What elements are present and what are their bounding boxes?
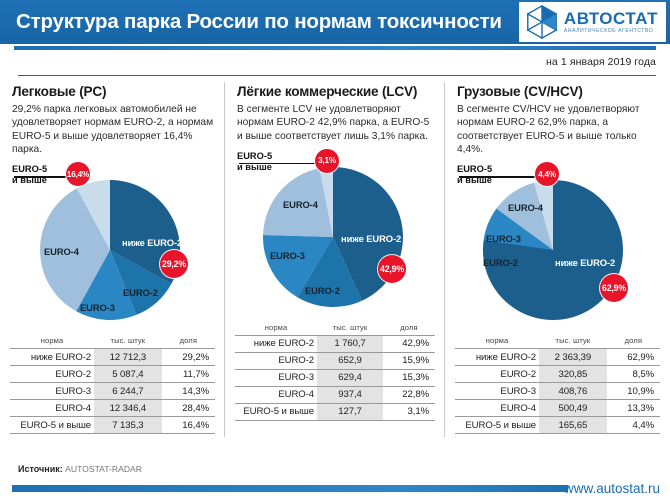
table-header-row: норма тыс. штук доля — [10, 334, 215, 349]
cell-qty: 937,4 — [317, 386, 383, 403]
cell-norm: ниже EURO-2 — [455, 349, 539, 366]
cell-norm: ниже EURO-2 — [235, 335, 317, 352]
cell-qty: 7 135,3 — [94, 417, 162, 434]
cell-norm: EURO-2 — [455, 366, 539, 383]
slice-label-euro2-cvhcv: EURO-2 — [483, 257, 518, 268]
table-row: EURO-2 5 087,4 11,7% — [10, 366, 215, 383]
cell-norm: EURO-4 — [10, 400, 94, 417]
pie-chart-lcv: EURO-5 и выше 3,1% 42,9% ниже EURO-2 EUR… — [235, 145, 440, 317]
slice-label-euro4-pc: EURO-4 — [44, 246, 79, 257]
table-row: EURO-4 12 346,4 28,4% — [10, 400, 215, 417]
slice-label-below-euro2-pc: ниже EURO-2 — [122, 237, 182, 248]
slice-label-euro2-pc: EURO-2 — [123, 287, 158, 298]
table-row: EURO-4 500,49 13,3% — [455, 400, 660, 417]
table-row: EURO-2 652,9 15,9% — [235, 352, 435, 369]
badge-euro5-pc: 16,4% — [66, 162, 90, 186]
hexagon-logo-icon — [523, 4, 561, 40]
cell-share: 28,4% — [162, 400, 215, 417]
cell-qty: 12 712,3 — [94, 349, 162, 366]
th-norm: норма — [10, 334, 94, 349]
cell-qty: 2 363,39 — [539, 349, 607, 366]
cell-norm: EURO-5 и выше — [10, 417, 94, 434]
cell-qty: 5 087,4 — [94, 366, 162, 383]
cell-share: 16,4% — [162, 417, 215, 434]
pie-chart-pc: EURO-5 и выше 16,4% 29,2% ниже EURO-2 EU… — [10, 158, 215, 330]
pie-chart-cvhcv: EURO-5 и выше 4,4% 62,9% ниже EURO-2 EUR… — [455, 158, 660, 330]
cell-norm: EURO-2 — [235, 352, 317, 369]
slice-label-euro4-cvhcv: EURO-4 — [508, 202, 543, 213]
column-desc-pc: 29,2% парка легковых автомобилей не удов… — [12, 103, 215, 156]
th-qty: тыс. штук — [94, 334, 162, 349]
table-row: EURO-4 937,4 22,8% — [235, 386, 435, 403]
badge-euro5-lcv: 3,1% — [315, 149, 339, 173]
cell-share: 62,9% — [607, 349, 660, 366]
slice-label-euro3-pc: EURO-3 — [80, 302, 115, 313]
th-share: доля — [162, 334, 215, 349]
th-share: доля — [607, 334, 660, 349]
table-row: EURO-3 408,76 10,9% — [455, 383, 660, 400]
table-row: EURO-5 и выше 165,65 4,4% — [455, 417, 660, 434]
table-cvhcv: норма тыс. штук доля ниже EURO-2 2 363,3… — [455, 334, 660, 434]
report-date: на 1 января 2019 года — [546, 56, 656, 68]
slice-label-euro3-lcv: EURO-3 — [270, 250, 305, 261]
header-divider-bar — [14, 46, 656, 50]
cell-qty: 500,49 — [539, 400, 607, 417]
column-title-cvhcv: Грузовые (CV/HCV) — [457, 84, 660, 99]
th-norm: норма — [235, 321, 317, 336]
table-header-row: норма тыс. штук доля — [455, 334, 660, 349]
source-value: AUTOSTAT-RADAR — [65, 464, 142, 474]
column-desc-cvhcv: В сегменте CV/HCV не удовлетворяют норма… — [457, 103, 660, 156]
cell-qty: 165,65 — [539, 417, 607, 434]
footer-bar — [12, 485, 568, 492]
euro5-line1: EURO-5 — [457, 164, 492, 174]
cell-qty: 629,4 — [317, 369, 383, 386]
cell-qty: 408,76 — [539, 383, 607, 400]
infographic-page: Структура парка России по нормам токсичн… — [0, 0, 670, 500]
cell-share: 14,3% — [162, 383, 215, 400]
table-row: ниже EURO-2 1 760,7 42,9% — [235, 335, 435, 352]
cell-norm: EURO-3 — [235, 369, 317, 386]
cell-norm: EURO-3 — [10, 383, 94, 400]
slice-label-euro3-cvhcv: EURO-3 — [486, 233, 521, 244]
cell-norm: EURO-2 — [10, 366, 94, 383]
table-row: EURO-5 и выше 7 135,3 16,4% — [10, 417, 215, 434]
cell-share: 22,8% — [383, 386, 435, 403]
badge-below-euro2-lcv: 42,9% — [378, 255, 406, 283]
logo-wordmark: АВТОСТАТ АНАЛИТИЧЕСКОЕ АГЕНТСТВО — [564, 10, 658, 34]
cell-share: 29,2% — [162, 349, 215, 366]
table-lcv: норма тыс. штук доля ниже EURO-2 1 760,7… — [235, 321, 435, 421]
column-pc: Легковые (PC) 29,2% парка легковых автом… — [0, 80, 225, 460]
slice-label-below-euro2-cvhcv: ниже EURO-2 — [555, 257, 615, 268]
logo-tagline: АНАЛИТИЧЕСКОЕ АГЕНТСТВО — [564, 29, 658, 34]
th-share: доля — [383, 321, 435, 336]
table-row: EURO-3 6 244,7 14,3% — [10, 383, 215, 400]
cell-norm: ниже EURO-2 — [10, 349, 94, 366]
columns-container: Легковые (PC) 29,2% парка легковых автом… — [0, 80, 670, 460]
cell-share: 11,7% — [162, 366, 215, 383]
cell-share: 13,3% — [607, 400, 660, 417]
cell-qty: 1 760,7 — [317, 335, 383, 352]
cell-share: 42,9% — [383, 335, 435, 352]
euro5-callout-lcv: EURO-5 и выше — [237, 151, 272, 173]
column-cvhcv: Грузовые (CV/HCV) В сегменте CV/HCV не у… — [445, 80, 670, 460]
table-header-row: норма тыс. штук доля — [235, 321, 435, 336]
table-row: EURO-3 629,4 15,3% — [235, 369, 435, 386]
euro5-line1: EURO-5 — [237, 151, 272, 161]
badge-below-euro2-cvhcv: 62,9% — [600, 274, 628, 302]
slice-label-below-euro2-lcv: ниже EURO-2 — [341, 233, 401, 244]
cell-norm: EURO-5 и выше — [235, 403, 317, 420]
cell-norm: EURO-4 — [455, 400, 539, 417]
cell-share: 15,3% — [383, 369, 435, 386]
column-lcv: Лёгкие коммерческие (LCV) В сегменте LCV… — [225, 80, 445, 460]
th-qty: тыс. штук — [539, 334, 607, 349]
table-pc: норма тыс. штук доля ниже EURO-2 12 712,… — [10, 334, 215, 434]
table-row: EURO-2 320,85 8,5% — [455, 366, 660, 383]
euro5-leader-line — [239, 163, 316, 165]
column-title-lcv: Лёгкие коммерческие (LCV) — [237, 84, 435, 99]
cell-qty: 320,85 — [539, 366, 607, 383]
table-row: EURO-5 и выше 127,7 3,1% — [235, 403, 435, 420]
column-desc-lcv: В сегменте LCV не удовлетворяют нормам E… — [237, 103, 435, 143]
cell-qty: 12 346,4 — [94, 400, 162, 417]
th-norm: норма — [455, 334, 539, 349]
autostat-logo: АВТОСТАТ АНАЛИТИЧЕСКОЕ АГЕНТСТВО — [519, 2, 666, 42]
th-qty: тыс. штук — [317, 321, 383, 336]
badge-below-euro2-pc: 29,2% — [160, 250, 188, 278]
source-label: Источник: — [18, 464, 63, 474]
table-row: ниже EURO-2 12 712,3 29,2% — [10, 349, 215, 366]
page-title: Структура парка России по нормам токсичн… — [0, 10, 519, 34]
footer-url[interactable]: www.autostat.ru — [564, 481, 660, 496]
badge-euro5-cvhcv: 4,4% — [535, 162, 559, 186]
cell-qty: 6 244,7 — [94, 383, 162, 400]
table-row: ниже EURO-2 2 363,39 62,9% — [455, 349, 660, 366]
logo-name: АВТОСТАТ — [564, 10, 658, 27]
euro5-leader-line — [14, 176, 66, 178]
page-header: Структура парка России по нормам токсичн… — [0, 0, 670, 44]
cell-norm: EURO-4 — [235, 386, 317, 403]
cell-share: 4,4% — [607, 417, 660, 434]
cell-qty: 652,9 — [317, 352, 383, 369]
euro5-callout-pc: EURO-5 и выше — [12, 164, 47, 186]
cell-qty: 127,7 — [317, 403, 383, 420]
slice-label-euro2-lcv: EURO-2 — [305, 285, 340, 296]
column-title-pc: Легковые (PC) — [12, 84, 215, 99]
euro5-leader-line — [459, 176, 536, 178]
date-divider — [18, 75, 656, 76]
cell-norm: EURO-5 и выше — [455, 417, 539, 434]
cell-share: 8,5% — [607, 366, 660, 383]
source-note: Источник: AUTOSTAT-RADAR — [18, 464, 142, 474]
cell-share: 3,1% — [383, 403, 435, 420]
euro5-callout-cvhcv: EURO-5 и выше — [457, 164, 492, 186]
cell-share: 15,9% — [383, 352, 435, 369]
slice-label-euro4-lcv: EURO-4 — [283, 199, 318, 210]
cell-norm: EURO-3 — [455, 383, 539, 400]
euro5-line1: EURO-5 — [12, 164, 47, 174]
cell-share: 10,9% — [607, 383, 660, 400]
